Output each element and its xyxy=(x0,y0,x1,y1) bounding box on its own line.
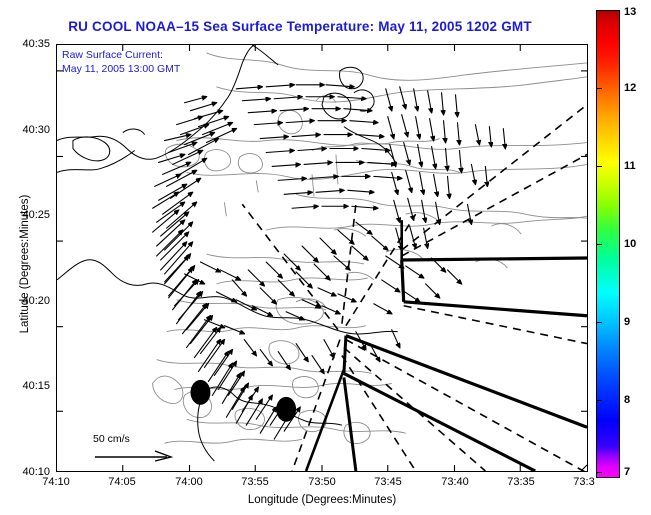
y-tick-label: 40:10 xyxy=(8,466,50,478)
x-tick-label: 73:35 xyxy=(507,476,535,488)
station-marker xyxy=(276,397,296,422)
scale-reference-arrow-icon xyxy=(93,445,183,467)
x-tick-label: 73:45 xyxy=(374,476,402,488)
station-marker xyxy=(190,380,210,405)
colorbar-tick-label: 12 xyxy=(624,82,636,94)
colorbar-tick-label: 9 xyxy=(624,316,630,328)
y-tick-label: 40:35 xyxy=(8,38,50,50)
scale-reference-label: 50 cm/s xyxy=(93,433,189,445)
x-axis-title: Longitude (Degrees:Minutes) xyxy=(56,494,588,506)
figure-root: RU COOL NOAA–15 Sea Surface Temperature:… xyxy=(0,0,651,515)
annotation-block: Raw Surface Current: May 11, 2005 13:00 … xyxy=(62,48,180,76)
y-tick-label: 40:30 xyxy=(8,124,50,136)
x-tick-label: 73:3 xyxy=(573,476,594,488)
map-canvas xyxy=(57,45,587,471)
map-plot-area: 50 cm/s xyxy=(56,44,588,472)
colorbar-tick-label: 8 xyxy=(624,394,630,406)
y-axis-title: Latitude (Degrees:Minutes) xyxy=(19,164,31,364)
page-title: RU COOL NOAA–15 Sea Surface Temperature:… xyxy=(0,19,600,34)
colorbar-tick-label: 10 xyxy=(624,238,636,250)
x-tick-label: 73:40 xyxy=(441,476,469,488)
colorbar-tick-label: 13 xyxy=(624,6,636,18)
x-tick-label: 74:05 xyxy=(108,476,136,488)
y-tick-label: 40:15 xyxy=(8,380,50,392)
scale-reference-legend: 50 cm/s xyxy=(93,433,189,472)
colorbar-tick-label: 7 xyxy=(624,466,630,478)
x-tick-label: 74:00 xyxy=(175,476,203,488)
x-tick-label: 73:50 xyxy=(308,476,336,488)
annotation-line-1: Raw Surface Current: xyxy=(62,48,180,62)
annotation-line-2: May 11, 2005 13:00 GMT xyxy=(62,62,180,76)
x-tick-label: 73:55 xyxy=(241,476,269,488)
colorbar-tick-label: 11 xyxy=(624,160,636,172)
